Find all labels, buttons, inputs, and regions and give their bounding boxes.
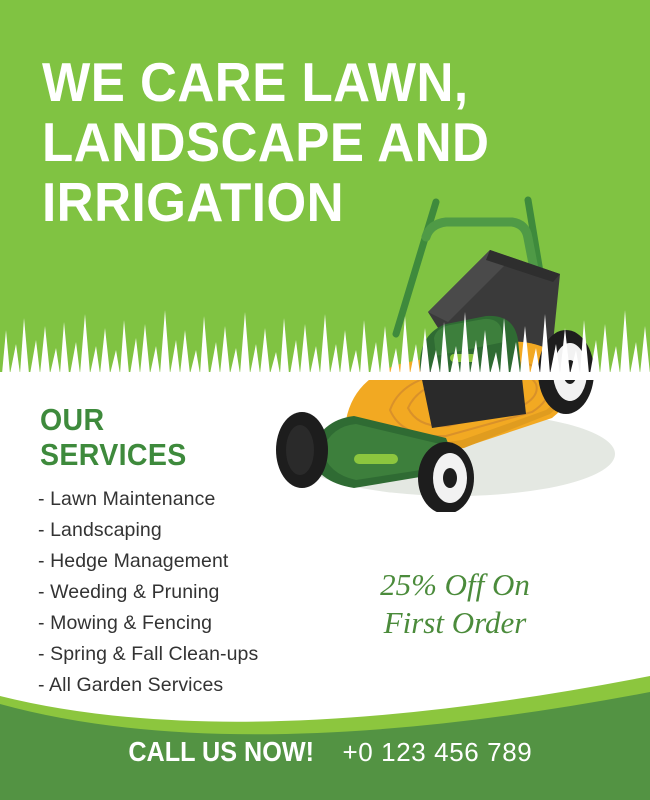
discount-offer: 25% Off On First Order [330, 566, 580, 642]
call-to-action: CALL US NOW! +0 123 456 789 [0, 736, 650, 768]
list-item: - Weeding & Pruning [38, 577, 338, 608]
list-item: - Mowing & Fencing [38, 608, 338, 639]
page-title: WE CARE LAWN, LANDSCAPE AND IRRIGATION [42, 52, 479, 232]
headline-line-1: WE CARE LAWN, [42, 52, 479, 112]
list-item: - Hedge Management [38, 546, 338, 577]
list-item: - Lawn Maintenance [38, 484, 338, 515]
phone-number[interactable]: +0 123 456 789 [342, 737, 532, 768]
cta-label: CALL US NOW! [128, 736, 314, 768]
headline-line-2: LANDSCAPE AND [42, 112, 479, 172]
services-heading-line-2: SERVICES [40, 437, 261, 472]
list-item: - Landscaping [38, 515, 338, 546]
headline-line-3: IRRIGATION [42, 172, 479, 232]
discount-line-1: 25% Off On [330, 566, 580, 604]
discount-line-2: First Order [330, 604, 580, 642]
services-heading-line-1: OUR [40, 402, 261, 437]
footer-wave-decoration [0, 660, 650, 800]
flyer-canvas: WE CARE LAWN, LANDSCAPE AND IRRIGATION O… [0, 0, 650, 800]
services-heading: OUR SERVICES [40, 402, 261, 472]
grass-silhouette [0, 300, 650, 380]
